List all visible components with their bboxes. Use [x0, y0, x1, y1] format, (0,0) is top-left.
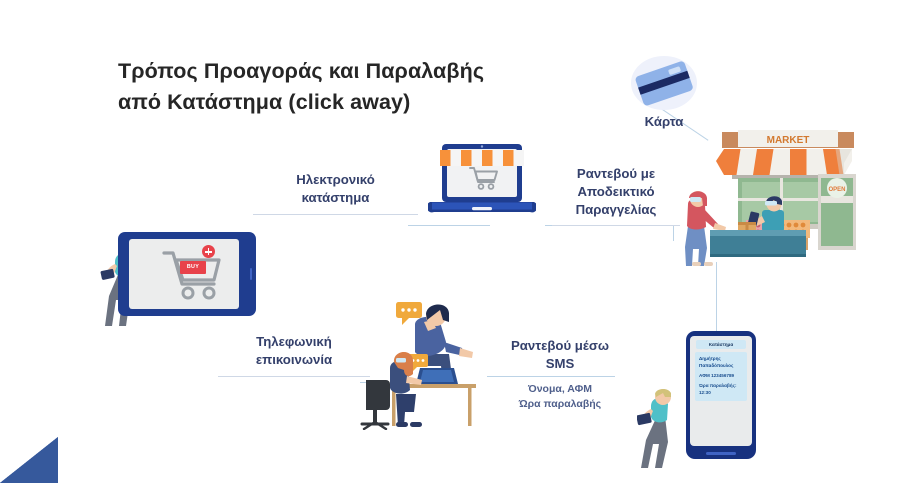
sms-customer-name-line-1: Δημήτρης — [699, 356, 743, 363]
label-telephone-underline — [218, 376, 370, 377]
label-appointment-line-1: Ραντεβού με — [577, 166, 655, 181]
label-eshop-line-1: Ηλεκτρονικό — [296, 172, 375, 187]
label-card: Κάρτα — [614, 113, 714, 131]
sms-pickup-label: Ώρα παραλαβής: — [699, 383, 743, 390]
store-counter-scene — [666, 186, 806, 268]
connector-store-to-sms — [716, 262, 717, 332]
slide-canvas: Τρόπος Προαγοράς και Παραλαβής από Κατάσ… — [0, 0, 924, 483]
person-with-phone-right — [637, 386, 683, 468]
label-sms-sub-line-1: Όνομα, ΑΦΜ — [528, 383, 592, 395]
laptop-eshop-illustration — [428, 140, 536, 222]
label-appointment-underline — [552, 225, 680, 226]
corner-triangle-decoration — [0, 437, 58, 483]
label-sms-appointment: Ραντεβού μέσω SMS — [484, 337, 636, 373]
label-appointment-line-2: Αποδεικτικό — [577, 184, 654, 199]
sms-phone-home-indicator — [706, 452, 736, 455]
label-telephone-line-2: επικοινωνία — [256, 352, 332, 367]
label-telephone-line-1: Τηλεφωνική — [256, 334, 332, 349]
buy-badge: BUY — [180, 261, 206, 274]
svg-text:MARKET: MARKET — [767, 135, 810, 146]
credit-card-illustration — [629, 55, 699, 113]
label-sms-line-2: SMS — [546, 356, 575, 371]
svg-text:OPEN: OPEN — [828, 187, 845, 193]
tablet-side-button — [250, 268, 253, 280]
sms-message-bubble: Δημήτρης Παπαδόπουλος ΑΦΜ 123456789 Ώρα … — [695, 352, 747, 401]
label-sms-sub-line-2: Ώρα παραλαβής — [519, 398, 601, 410]
sms-afm: ΑΦΜ 123456789 — [699, 373, 743, 380]
connector-sms-underline-long — [487, 376, 615, 377]
sms-phone-screen: Κατάστημα Δημήτρης Παπαδόπουλος ΑΦΜ 1234… — [690, 336, 752, 446]
page-title-line-1: Τρόπος Προαγοράς και Παραλαβής — [118, 59, 484, 83]
label-sms-subtext: Όνομα, ΑΦΜ Ώρα παραλαβής — [484, 382, 636, 412]
sms-customer-name-line-2: Παπαδόπουλος — [699, 363, 743, 370]
label-eshop-line-2: κατάστημα — [302, 190, 370, 205]
label-sms-line-1: Ραντεβού μέσω — [511, 338, 609, 353]
page-title-line-2: από Κατάστημα (click away) — [118, 87, 578, 118]
connector-eshop-to-laptop — [408, 225, 490, 226]
sms-sender-header: Κατάστημα — [696, 340, 746, 349]
label-card-text: Κάρτα — [645, 114, 684, 129]
sms-phone-device: Κατάστημα Δημήτρης Παπαδόπουλος ΑΦΜ 1234… — [686, 331, 756, 459]
sms-pickup-time: 12:30 — [699, 390, 743, 397]
telephone-call-illustration — [360, 298, 482, 430]
label-eshop: Ηλεκτρονικό κατάστημα — [253, 171, 418, 215]
label-telephone-contact: Τηλεφωνική επικοινωνία — [218, 333, 370, 377]
add-to-cart-plus-icon — [202, 245, 215, 258]
label-appointment-proof: Ραντεβού με Αποδεικτικό Παραγγελίας — [552, 165, 680, 226]
page-title: Τρόπος Προαγοράς και Παραλαβής από Κατάσ… — [118, 56, 578, 117]
label-eshop-underline — [253, 214, 418, 215]
tablet-device: BUY — [118, 232, 256, 316]
label-appointment-line-3: Παραγγελίας — [576, 202, 657, 217]
